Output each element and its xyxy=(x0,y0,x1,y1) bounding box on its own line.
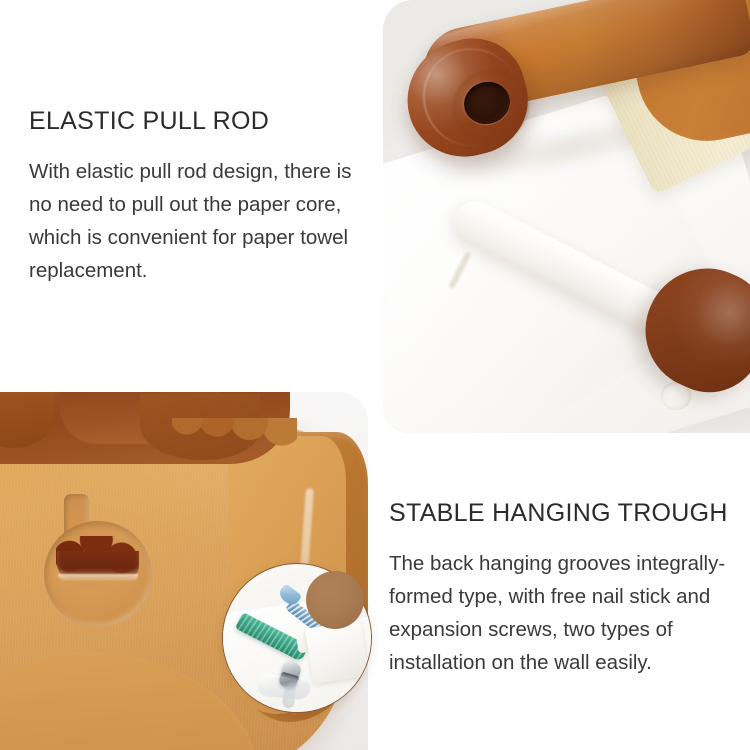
color-swatch-brown xyxy=(306,571,364,629)
feature-panel-elastic-pull-rod: ELASTIC PULL ROD With elastic pull rod d… xyxy=(29,108,369,287)
keyhole-opening-lip xyxy=(58,574,138,581)
adhesive-hook-plate xyxy=(305,620,369,684)
feature-body-stable-hanging-trough: The back hanging grooves integrally-form… xyxy=(389,547,739,680)
feature-title-elastic-pull-rod: ELASTIC PULL ROD xyxy=(29,108,369,136)
photo-elastic-pull-rod xyxy=(383,0,750,433)
product-infographic: ELASTIC PULL ROD With elastic pull rod d… xyxy=(0,0,750,750)
animal-fringe xyxy=(172,418,297,476)
feature-panel-stable-hanging-trough: STABLE HANGING TROUGH The back hanging g… xyxy=(389,500,739,679)
feature-body-elastic-pull-rod: With elastic pull rod design, there is n… xyxy=(29,155,369,288)
feature-title-stable-hanging-trough: STABLE HANGING TROUGH xyxy=(389,500,739,528)
